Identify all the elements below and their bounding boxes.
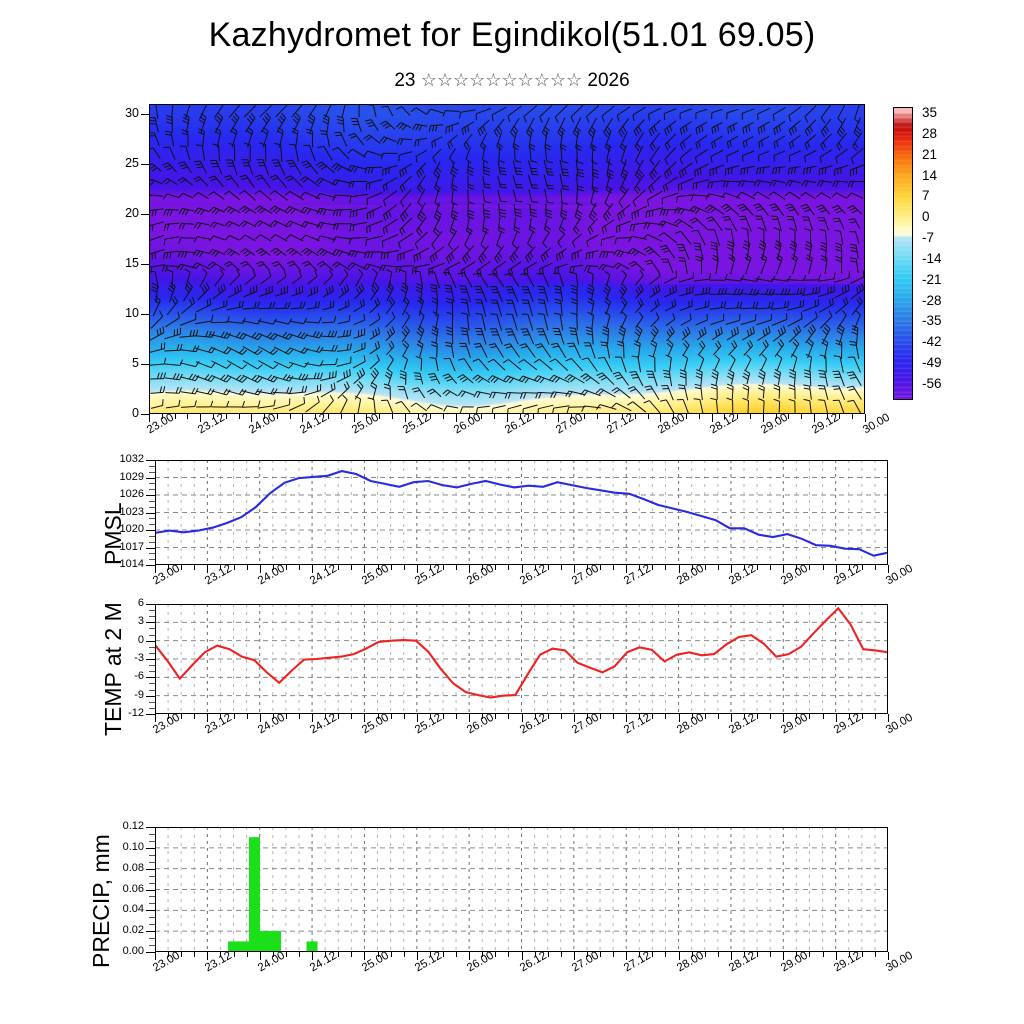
- colorbar-tick--56: -56: [922, 376, 942, 391]
- colorbar-tick--28: -28: [922, 293, 942, 308]
- x-minor-tick: [443, 952, 444, 957]
- x-minor-tick: [652, 565, 653, 570]
- y-minor-tick: [149, 628, 155, 629]
- x-major-tick: [865, 414, 866, 422]
- x-minor-tick: [862, 952, 863, 957]
- y-minor-tick: [149, 896, 155, 897]
- y-major-tick: [146, 827, 155, 828]
- x-minor-tick: [770, 714, 771, 719]
- y-minor-tick: [149, 862, 155, 863]
- x-minor-tick: [705, 952, 706, 957]
- x-major-tick: [354, 414, 355, 422]
- x-minor-tick: [391, 565, 392, 570]
- x-minor-tick: [665, 714, 666, 719]
- x-major-tick: [679, 952, 680, 960]
- x-minor-tick: [351, 714, 352, 719]
- x-minor-tick: [852, 414, 853, 419]
- x-major-tick: [888, 714, 889, 722]
- xsec-y-label-20: 20: [101, 207, 139, 220]
- colorbar: [893, 107, 913, 400]
- y-minor-tick: [149, 616, 155, 617]
- x-minor-tick: [508, 565, 509, 570]
- y-minor-tick: [149, 903, 155, 904]
- x-major-tick: [417, 952, 418, 960]
- x-minor-tick: [247, 714, 248, 719]
- x-minor-tick: [718, 952, 719, 957]
- x-minor-tick: [533, 414, 534, 419]
- x-minor-tick: [839, 414, 840, 419]
- x-minor-tick: [299, 952, 300, 957]
- precip-frame: [155, 827, 888, 952]
- y-tick-label-1020: 1020: [99, 524, 144, 535]
- x-major-tick: [836, 714, 837, 722]
- x-minor-tick: [750, 414, 751, 419]
- y-major-tick: [146, 641, 155, 642]
- x-minor-tick: [299, 714, 300, 719]
- colorbar-tick-14: 14: [922, 168, 937, 183]
- xsec-y-tick: [141, 264, 149, 265]
- x-major-tick: [731, 714, 732, 722]
- x-major-tick: [364, 714, 365, 722]
- x-major-tick: [312, 565, 313, 573]
- x-major-tick: [207, 714, 208, 722]
- y-major-tick: [146, 677, 155, 678]
- x-major-tick: [836, 565, 837, 573]
- y-tick-label-1032: 1032: [99, 454, 144, 465]
- x-major-tick: [814, 414, 815, 422]
- y-minor-tick: [149, 647, 155, 648]
- x-minor-tick: [299, 565, 300, 570]
- x-major-tick: [574, 565, 575, 573]
- y-major-tick: [146, 890, 155, 891]
- y-minor-tick: [149, 507, 155, 508]
- temp-plot: [155, 604, 888, 714]
- x-major-tick: [522, 952, 523, 960]
- y-minor-tick: [149, 501, 155, 502]
- x-minor-tick: [875, 714, 876, 719]
- y-minor-tick: [149, 466, 155, 467]
- x-minor-tick: [194, 952, 195, 957]
- y-tick-label-3: 3: [99, 616, 144, 627]
- y-tick-label-1014: 1014: [99, 559, 144, 570]
- x-minor-tick: [175, 414, 176, 419]
- x-major-tick: [731, 565, 732, 573]
- x-minor-tick: [548, 565, 549, 570]
- x-minor-tick: [823, 565, 824, 570]
- x-minor-tick: [239, 414, 240, 419]
- colorbar-tick--21: -21: [922, 272, 942, 287]
- x-minor-tick: [788, 414, 789, 419]
- y-major-tick: [146, 478, 155, 479]
- x-minor-tick: [757, 714, 758, 719]
- y-major-tick: [146, 696, 155, 697]
- y-minor-tick: [149, 524, 155, 525]
- x-minor-tick: [181, 714, 182, 719]
- y-minor-tick: [149, 483, 155, 484]
- x-minor-tick: [635, 414, 636, 419]
- y-major-tick: [146, 565, 155, 566]
- x-minor-tick: [548, 714, 549, 719]
- x-minor-tick: [823, 952, 824, 957]
- x-major-tick: [149, 414, 150, 422]
- x-minor-tick: [226, 414, 227, 419]
- colorbar-tick-35: 35: [922, 105, 937, 120]
- x-major-tick: [155, 952, 156, 960]
- x-minor-tick: [391, 714, 392, 719]
- x-minor-tick: [613, 714, 614, 719]
- x-minor-tick: [770, 952, 771, 957]
- xsec-y-tick: [141, 314, 149, 315]
- xsec-y-tick: [141, 164, 149, 165]
- x-minor-tick: [286, 565, 287, 570]
- y-minor-tick: [149, 883, 155, 884]
- xsec-y-tick: [141, 414, 149, 415]
- cross-section-plot: [149, 104, 865, 414]
- x-minor-tick: [234, 952, 235, 957]
- x-minor-tick: [705, 565, 706, 570]
- x-minor-tick: [277, 414, 278, 419]
- x-major-tick: [626, 565, 627, 573]
- y-major-tick: [146, 548, 155, 549]
- x-minor-tick: [686, 414, 687, 419]
- x-minor-tick: [338, 952, 339, 957]
- y-minor-tick: [149, 690, 155, 691]
- x-major-tick: [207, 565, 208, 573]
- x-minor-tick: [875, 565, 876, 570]
- x-minor-tick: [443, 414, 444, 419]
- x-major-tick: [574, 952, 575, 960]
- x-minor-tick: [561, 565, 562, 570]
- xsec-y-label-30: 30: [101, 107, 139, 120]
- y-major-tick: [146, 604, 155, 605]
- x-major-tick: [260, 952, 261, 960]
- y-minor-tick: [149, 683, 155, 684]
- colorbar-tick--42: -42: [922, 334, 942, 349]
- y-major-tick: [146, 530, 155, 531]
- x-major-tick: [626, 714, 627, 722]
- x-major-tick: [260, 714, 261, 722]
- y-major-tick: [146, 910, 155, 911]
- x-major-tick: [417, 714, 418, 722]
- x-minor-tick: [404, 714, 405, 719]
- x-minor-tick: [341, 414, 342, 419]
- x-major-tick: [469, 952, 470, 960]
- colorbar-tick-0: 0: [922, 209, 930, 224]
- x-minor-tick: [351, 952, 352, 957]
- x-minor-tick: [338, 565, 339, 570]
- x-minor-tick: [600, 565, 601, 570]
- y-minor-tick: [149, 917, 155, 918]
- page-title: Kazhydromet for Egindikol(51.01 69.05): [0, 16, 1024, 55]
- x-major-tick: [836, 952, 837, 960]
- x-minor-tick: [757, 565, 758, 570]
- x-minor-tick: [548, 952, 549, 957]
- y-tick-label-0: 0: [99, 635, 144, 646]
- x-major-tick: [609, 414, 610, 422]
- x-major-tick: [251, 414, 252, 422]
- x-major-tick: [155, 714, 156, 722]
- x-minor-tick: [494, 414, 495, 419]
- x-major-tick: [522, 565, 523, 573]
- xsec-y-label-0: 0: [101, 407, 139, 420]
- x-minor-tick: [187, 414, 188, 419]
- y-tick-label-0.00: 0.00: [99, 946, 144, 957]
- x-minor-tick: [508, 952, 509, 957]
- xsec-y-label-10: 10: [101, 307, 139, 320]
- colorbar-tick-28: 28: [922, 126, 937, 141]
- x-major-tick: [364, 952, 365, 960]
- y-minor-tick: [149, 653, 155, 654]
- x-major-tick: [626, 952, 627, 960]
- colorbar-tick--49: -49: [922, 355, 942, 370]
- x-minor-tick: [456, 952, 457, 957]
- subtitle-day: 23: [394, 70, 415, 91]
- y-major-tick: [146, 513, 155, 514]
- y-minor-tick: [149, 536, 155, 537]
- x-major-tick: [312, 714, 313, 722]
- x-major-tick: [679, 565, 680, 573]
- y-minor-tick: [149, 938, 155, 939]
- y-tick-label-6: 6: [99, 598, 144, 609]
- x-minor-tick: [613, 565, 614, 570]
- x-major-tick: [522, 714, 523, 722]
- y-tick-label-1017: 1017: [99, 542, 144, 553]
- x-major-tick: [469, 714, 470, 722]
- x-minor-tick: [481, 414, 482, 419]
- xsec-y-tick: [141, 364, 149, 365]
- precip-plot: [155, 827, 888, 952]
- y-tick-label-0.06: 0.06: [99, 884, 144, 895]
- y-minor-tick: [149, 635, 155, 636]
- colorbar-tick--14: -14: [922, 251, 942, 266]
- colorbar-tick-21: 21: [922, 147, 937, 162]
- y-tick-label-1029: 1029: [99, 472, 144, 483]
- x-major-tick: [507, 414, 508, 422]
- x-major-tick: [417, 565, 418, 573]
- colorbar-tick--35: -35: [922, 313, 942, 328]
- x-minor-tick: [247, 952, 248, 957]
- y-tick-label--9: -9: [99, 690, 144, 701]
- xsec-y-tick: [141, 214, 149, 215]
- x-minor-tick: [443, 714, 444, 719]
- xsec-y-tick: [141, 114, 149, 115]
- x-minor-tick: [823, 714, 824, 719]
- x-minor-tick: [665, 952, 666, 957]
- x-major-tick: [405, 414, 406, 422]
- x-major-tick: [731, 952, 732, 960]
- x-minor-tick: [665, 565, 666, 570]
- x-minor-tick: [801, 414, 802, 419]
- x-minor-tick: [699, 414, 700, 419]
- x-major-tick: [679, 714, 680, 722]
- x-minor-tick: [234, 565, 235, 570]
- x-minor-tick: [338, 714, 339, 719]
- x-minor-tick: [456, 714, 457, 719]
- colorbar-tick-7: 7: [922, 188, 930, 203]
- y-minor-tick: [149, 834, 155, 835]
- y-tick-label-0.04: 0.04: [99, 904, 144, 915]
- y-major-tick: [146, 931, 155, 932]
- xsec-y-label-5: 5: [101, 357, 139, 370]
- wind-barbs-overlay: [149, 104, 865, 414]
- y-major-tick: [146, 848, 155, 849]
- y-major-tick: [146, 622, 155, 623]
- x-minor-tick: [508, 714, 509, 719]
- x-major-tick: [207, 952, 208, 960]
- x-minor-tick: [351, 565, 352, 570]
- x-minor-tick: [495, 714, 496, 719]
- y-minor-tick: [149, 665, 155, 666]
- x-minor-tick: [597, 414, 598, 419]
- y-tick-label-0.12: 0.12: [99, 821, 144, 832]
- x-major-tick: [260, 565, 261, 573]
- x-minor-tick: [234, 714, 235, 719]
- x-minor-tick: [561, 952, 562, 957]
- x-major-tick: [155, 565, 156, 573]
- y-minor-tick: [149, 924, 155, 925]
- y-tick-label-0.02: 0.02: [99, 925, 144, 936]
- x-major-tick: [456, 414, 457, 422]
- y-minor-tick: [149, 518, 155, 519]
- x-minor-tick: [875, 952, 876, 957]
- x-minor-tick: [809, 714, 810, 719]
- pmsl-frame: [155, 460, 888, 565]
- x-minor-tick: [495, 952, 496, 957]
- y-major-tick: [146, 659, 155, 660]
- x-minor-tick: [862, 714, 863, 719]
- y-minor-tick: [149, 610, 155, 611]
- x-minor-tick: [600, 714, 601, 719]
- x-minor-tick: [652, 714, 653, 719]
- x-minor-tick: [648, 414, 649, 419]
- x-minor-tick: [290, 414, 291, 419]
- x-minor-tick: [391, 952, 392, 957]
- x-minor-tick: [718, 714, 719, 719]
- x-minor-tick: [456, 565, 457, 570]
- temp-frame: [155, 604, 888, 714]
- x-minor-tick: [718, 565, 719, 570]
- x-minor-tick: [328, 414, 329, 419]
- y-minor-tick: [149, 945, 155, 946]
- x-minor-tick: [561, 714, 562, 719]
- y-tick-label--6: -6: [99, 671, 144, 682]
- x-major-tick: [312, 952, 313, 960]
- x-major-tick: [469, 565, 470, 573]
- y-minor-tick: [149, 708, 155, 709]
- x-major-tick: [783, 952, 784, 960]
- y-tick-label-1026: 1026: [99, 489, 144, 500]
- x-major-tick: [888, 952, 889, 960]
- x-minor-tick: [809, 952, 810, 957]
- x-major-tick: [763, 414, 764, 422]
- colorbar-tick--7: -7: [922, 230, 934, 245]
- y-minor-tick: [149, 671, 155, 672]
- y-minor-tick: [149, 855, 155, 856]
- y-major-tick: [146, 495, 155, 496]
- y-minor-tick: [149, 542, 155, 543]
- x-minor-tick: [809, 565, 810, 570]
- y-tick-label-0.10: 0.10: [99, 842, 144, 853]
- y-minor-tick: [149, 841, 155, 842]
- y-minor-tick: [149, 559, 155, 560]
- x-minor-tick: [181, 565, 182, 570]
- x-minor-tick: [613, 952, 614, 957]
- x-major-tick: [660, 414, 661, 422]
- x-major-tick: [888, 565, 889, 573]
- x-minor-tick: [194, 565, 195, 570]
- y-major-tick: [146, 952, 155, 953]
- xsec-y-label-15: 15: [101, 257, 139, 270]
- y-minor-tick: [149, 702, 155, 703]
- y-tick-label--3: -3: [99, 653, 144, 664]
- x-minor-tick: [404, 952, 405, 957]
- x-minor-tick: [404, 565, 405, 570]
- x-minor-tick: [652, 952, 653, 957]
- y-tick-label--12: -12: [99, 708, 144, 719]
- x-minor-tick: [584, 414, 585, 419]
- subtitle-year: 2026: [587, 70, 629, 91]
- x-major-tick: [200, 414, 201, 422]
- subtitle-month-glyphs: ☆☆☆☆☆☆☆☆☆☆: [421, 70, 582, 90]
- x-minor-tick: [600, 952, 601, 957]
- x-major-tick: [712, 414, 713, 422]
- y-tick-label-1023: 1023: [99, 507, 144, 518]
- x-minor-tick: [194, 714, 195, 719]
- x-major-tick: [558, 414, 559, 422]
- x-minor-tick: [495, 565, 496, 570]
- x-minor-tick: [705, 714, 706, 719]
- x-major-tick: [302, 414, 303, 422]
- xsec-y-label-25: 25: [101, 157, 139, 170]
- x-minor-tick: [443, 565, 444, 570]
- x-minor-tick: [862, 565, 863, 570]
- y-minor-tick: [149, 472, 155, 473]
- x-minor-tick: [286, 714, 287, 719]
- x-minor-tick: [392, 414, 393, 419]
- y-major-tick: [146, 869, 155, 870]
- y-minor-tick: [149, 553, 155, 554]
- x-major-tick: [574, 714, 575, 722]
- pmsl-plot: [155, 460, 888, 565]
- x-minor-tick: [770, 565, 771, 570]
- y-tick-label-0.08: 0.08: [99, 863, 144, 874]
- x-minor-tick: [247, 565, 248, 570]
- x-minor-tick: [545, 414, 546, 419]
- y-major-tick: [146, 714, 155, 715]
- y-major-tick: [146, 460, 155, 461]
- x-major-tick: [783, 565, 784, 573]
- y-minor-tick: [149, 876, 155, 877]
- x-major-tick: [783, 714, 784, 722]
- x-minor-tick: [757, 952, 758, 957]
- x-minor-tick: [181, 952, 182, 957]
- page-subtitle: 23 ☆☆☆☆☆☆☆☆☆☆ 2026: [0, 70, 1024, 92]
- y-minor-tick: [149, 489, 155, 490]
- x-major-tick: [364, 565, 365, 573]
- x-minor-tick: [430, 414, 431, 419]
- x-minor-tick: [286, 952, 287, 957]
